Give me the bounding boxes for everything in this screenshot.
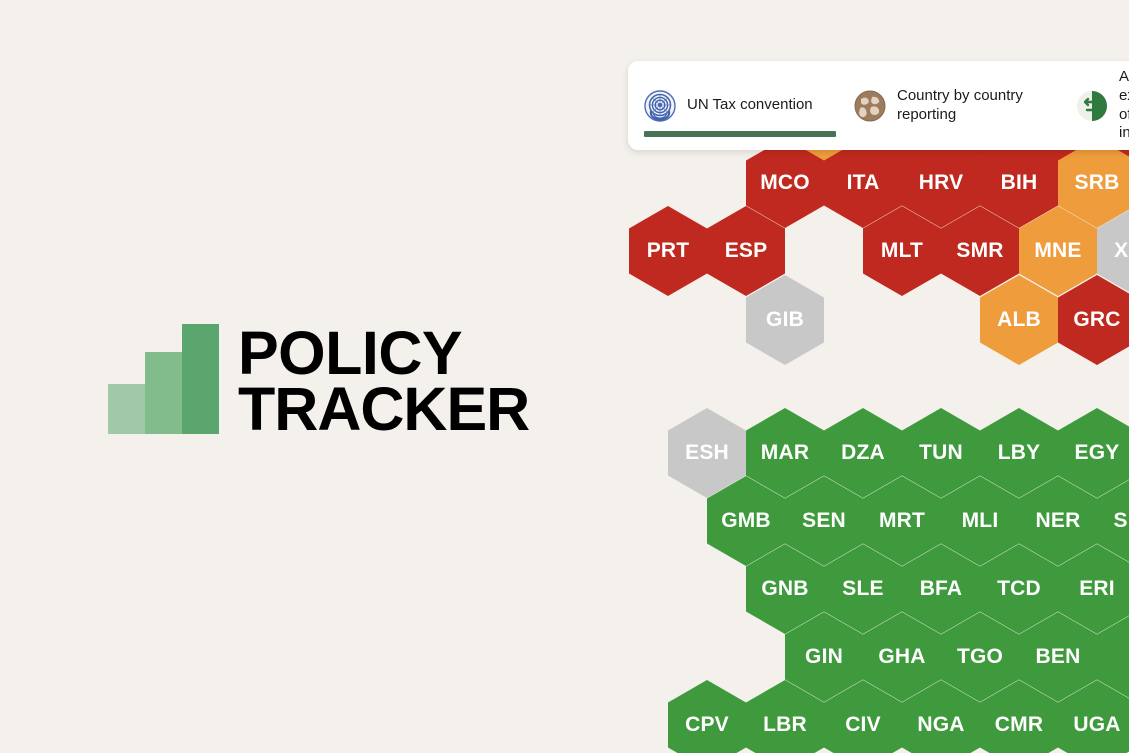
un-emblem-icon	[644, 90, 676, 122]
topic-tab-bar[interactable]: UN Tax convention Country by country rep…	[628, 61, 1129, 150]
tab-label: Country by country reporting	[897, 87, 1042, 124]
tab-label: Automatic exchange of information	[1119, 68, 1129, 142]
active-tab-indicator	[644, 131, 836, 137]
globe-icon	[854, 90, 886, 122]
tab-country-by-country-reporting[interactable]: Country by country reporting	[854, 61, 1062, 123]
tab-automatic-exchange-of-information[interactable]: Automatic exchange of information	[1076, 61, 1129, 123]
hex-prt[interactable]: PRT	[629, 206, 707, 296]
exchange-globe-icon	[1076, 90, 1108, 122]
hex-cpv[interactable]: CPV	[668, 680, 746, 753]
tab-label: UN Tax convention	[687, 96, 813, 115]
tab-un-tax-convention[interactable]: UN Tax convention	[644, 61, 840, 123]
